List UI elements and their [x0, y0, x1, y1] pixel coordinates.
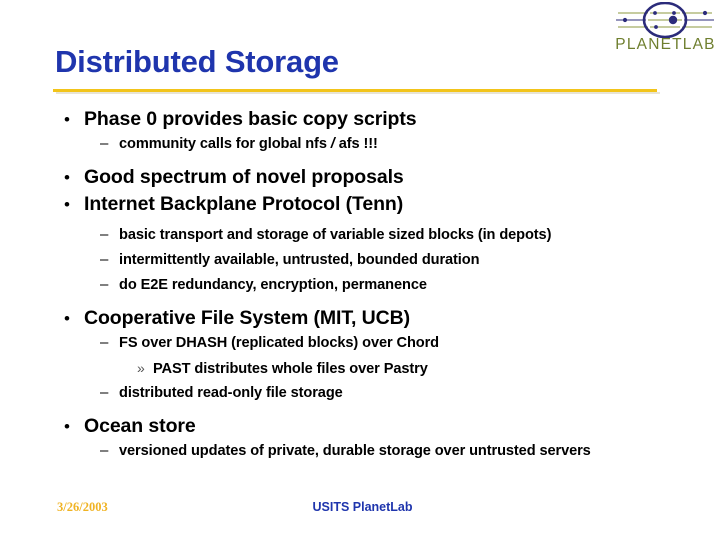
list-item-label: versioned updates of private, durable st…	[119, 442, 591, 460]
list-item: – distributed read-only file storage	[0, 384, 719, 409]
bullet-dash-icon: –	[100, 226, 119, 244]
bullet-dash-icon: –	[100, 334, 119, 352]
list-item-label-part1: community calls for global nfs	[119, 136, 331, 152]
bullet-dash-icon: –	[100, 384, 119, 402]
bullet-guillemet-icon: »	[137, 359, 153, 377]
list-item: – basic transport and storage of variabl…	[0, 226, 719, 251]
footer-center-label: USITS PlanetLab	[312, 500, 412, 514]
list-item-label: community calls for global nfs / afs !!!	[119, 135, 378, 153]
bullet-dot-icon: •	[64, 195, 84, 215]
bullet-dash-icon: –	[100, 251, 119, 269]
list-item-label: Ocean store	[84, 415, 196, 437]
list-item-label: basic transport and storage of variable …	[119, 226, 551, 244]
list-item-label: Good spectrum of novel proposals	[84, 166, 404, 188]
bullet-dash-icon: –	[100, 276, 119, 294]
title-divider	[53, 89, 657, 92]
list-item-label: PAST distributes whole files over Pastry	[153, 360, 428, 378]
list-item: – versioned updates of private, durable …	[0, 442, 719, 467]
list-item-label: Phase 0 provides basic copy scripts	[84, 108, 417, 130]
bullet-dot-icon: •	[64, 417, 84, 437]
list-item: • Phase 0 provides basic copy scripts	[0, 108, 719, 135]
list-item: • Good spectrum of novel proposals	[0, 166, 719, 193]
page-title: Distributed Storage	[55, 44, 339, 80]
list-item: • Internet Backplane Protocol (Tenn)	[0, 193, 719, 220]
list-item-label: distributed read-only file storage	[119, 384, 343, 402]
bullet-dot-icon: •	[64, 110, 84, 130]
list-item: – FS over DHASH (replicated blocks) over…	[0, 334, 719, 359]
list-item: » PAST distributes whole files over Past…	[0, 359, 719, 384]
list-item-label: Internet Backplane Protocol (Tenn)	[84, 193, 403, 215]
list-item-label: Cooperative File System (MIT, UCB)	[84, 307, 410, 329]
planetlab-wordmark: PLANETLAB	[608, 36, 719, 54]
list-item: – do E2E redundancy, encryption, permane…	[0, 276, 719, 301]
bullet-dash-icon: –	[100, 135, 119, 153]
list-item: • Cooperative File System (MIT, UCB)	[0, 307, 719, 334]
title-rule-shadow	[56, 92, 660, 94]
list-item: – community calls for global nfs / afs !…	[0, 135, 719, 160]
list-item: – intermittently available, untrusted, b…	[0, 251, 719, 276]
bullet-dot-icon: •	[64, 309, 84, 329]
list-item-label: intermittently available, untrusted, bou…	[119, 251, 479, 269]
bullet-dot-icon: •	[64, 168, 84, 188]
footer-center-text: USITS PlanetLab	[0, 500, 719, 514]
planetlab-logo: PLANETLAB	[608, 2, 719, 56]
slide-body: • Phase 0 provides basic copy scripts – …	[0, 108, 719, 467]
list-item-label-part2: afs !!!	[335, 136, 378, 152]
bullet-dash-icon: –	[100, 442, 119, 460]
list-item-label: FS over DHASH (replicated blocks) over C…	[119, 334, 439, 352]
planetlab-logo-mark	[608, 2, 719, 38]
list-item: • Ocean store	[0, 415, 719, 442]
list-item-label: do E2E redundancy, encryption, permanenc…	[119, 276, 427, 294]
